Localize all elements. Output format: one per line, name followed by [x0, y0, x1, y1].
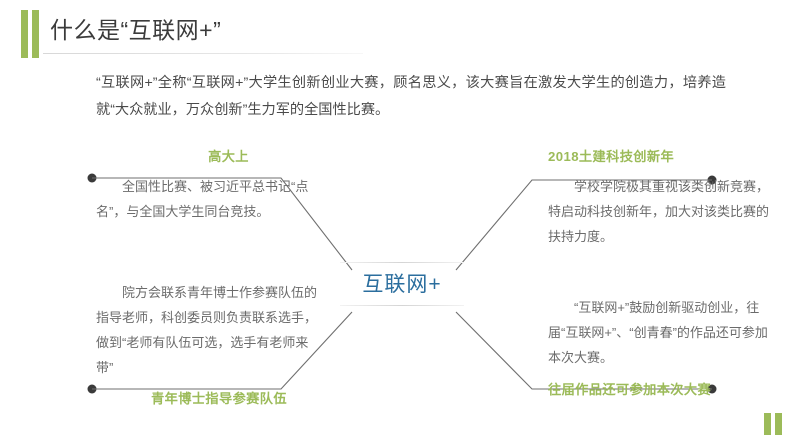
decorative-bar: [775, 413, 782, 435]
center-node-rule-bottom: [340, 305, 464, 306]
center-node: 互联网+: [340, 262, 464, 306]
quadrant-top-right-heading: 2018土建科技创新年: [548, 146, 780, 165]
quadrant-top-left-body: 全国性比赛、被习近平总书记“点名”，与全国大学生同台竞技。: [96, 174, 321, 224]
center-node-label: 互联网+: [340, 263, 464, 305]
decorative-bars-top-left: [21, 10, 39, 58]
quadrant-bottom-left-heading: 青年博士指导参赛队伍: [96, 388, 324, 407]
decorative-bar: [32, 10, 39, 58]
page-title: 什么是“互联网+”: [50, 11, 221, 45]
quadrant-bottom-left: 院方会联系青年博士作参赛队伍的指导老师，科创委员则负责联系选手，做到“老师有队伍…: [96, 280, 324, 407]
title-divider: [43, 53, 363, 54]
quadrant-top-left: 高大上 全国性比赛、被习近平总书记“点名”，与全国大学生同台竞技。: [96, 146, 321, 224]
decorative-bar: [764, 413, 771, 435]
quadrant-bottom-right: “互联网+”鼓励创新驱动创业，往届“互联网+”、“创青春”的作品还可参加本次大赛…: [548, 295, 780, 398]
quadrant-bottom-left-body: 院方会联系青年博士作参赛队伍的指导老师，科创委员则负责联系选手，做到“老师有队伍…: [96, 280, 324, 380]
quadrant-top-right-body: 学校学院极其重视该类创新竞赛，特启动科技创新年，加大对该类比赛的扶持力度。: [548, 174, 780, 249]
decorative-bar: [21, 10, 28, 58]
slide-canvas: 什么是“互联网+” “互联网+”全称“互联网+”大学生创新创业大赛，顾名思义，该…: [0, 0, 798, 446]
diagram-container: 互联网+ 高大上 全国性比赛、被习近平总书记“点名”，与全国大学生同台竞技。 2…: [0, 140, 798, 446]
decorative-bars-bottom-right: [764, 413, 782, 435]
quadrant-top-left-heading: 高大上: [96, 146, 321, 165]
quadrant-bottom-right-body: “互联网+”鼓励创新驱动创业，往届“互联网+”、“创青春”的作品还可参加本次大赛…: [548, 295, 780, 370]
quadrant-top-right: 2018土建科技创新年 学校学院极其重视该类创新竞赛，特启动科技创新年，加大对该…: [548, 146, 780, 249]
intro-paragraph: “互联网+”全称“互联网+”大学生创新创业大赛，顾名思义，该大赛旨在激发大学生的…: [96, 70, 726, 124]
quadrant-bottom-right-heading: 往届作品还可参加本次大赛: [548, 379, 780, 398]
